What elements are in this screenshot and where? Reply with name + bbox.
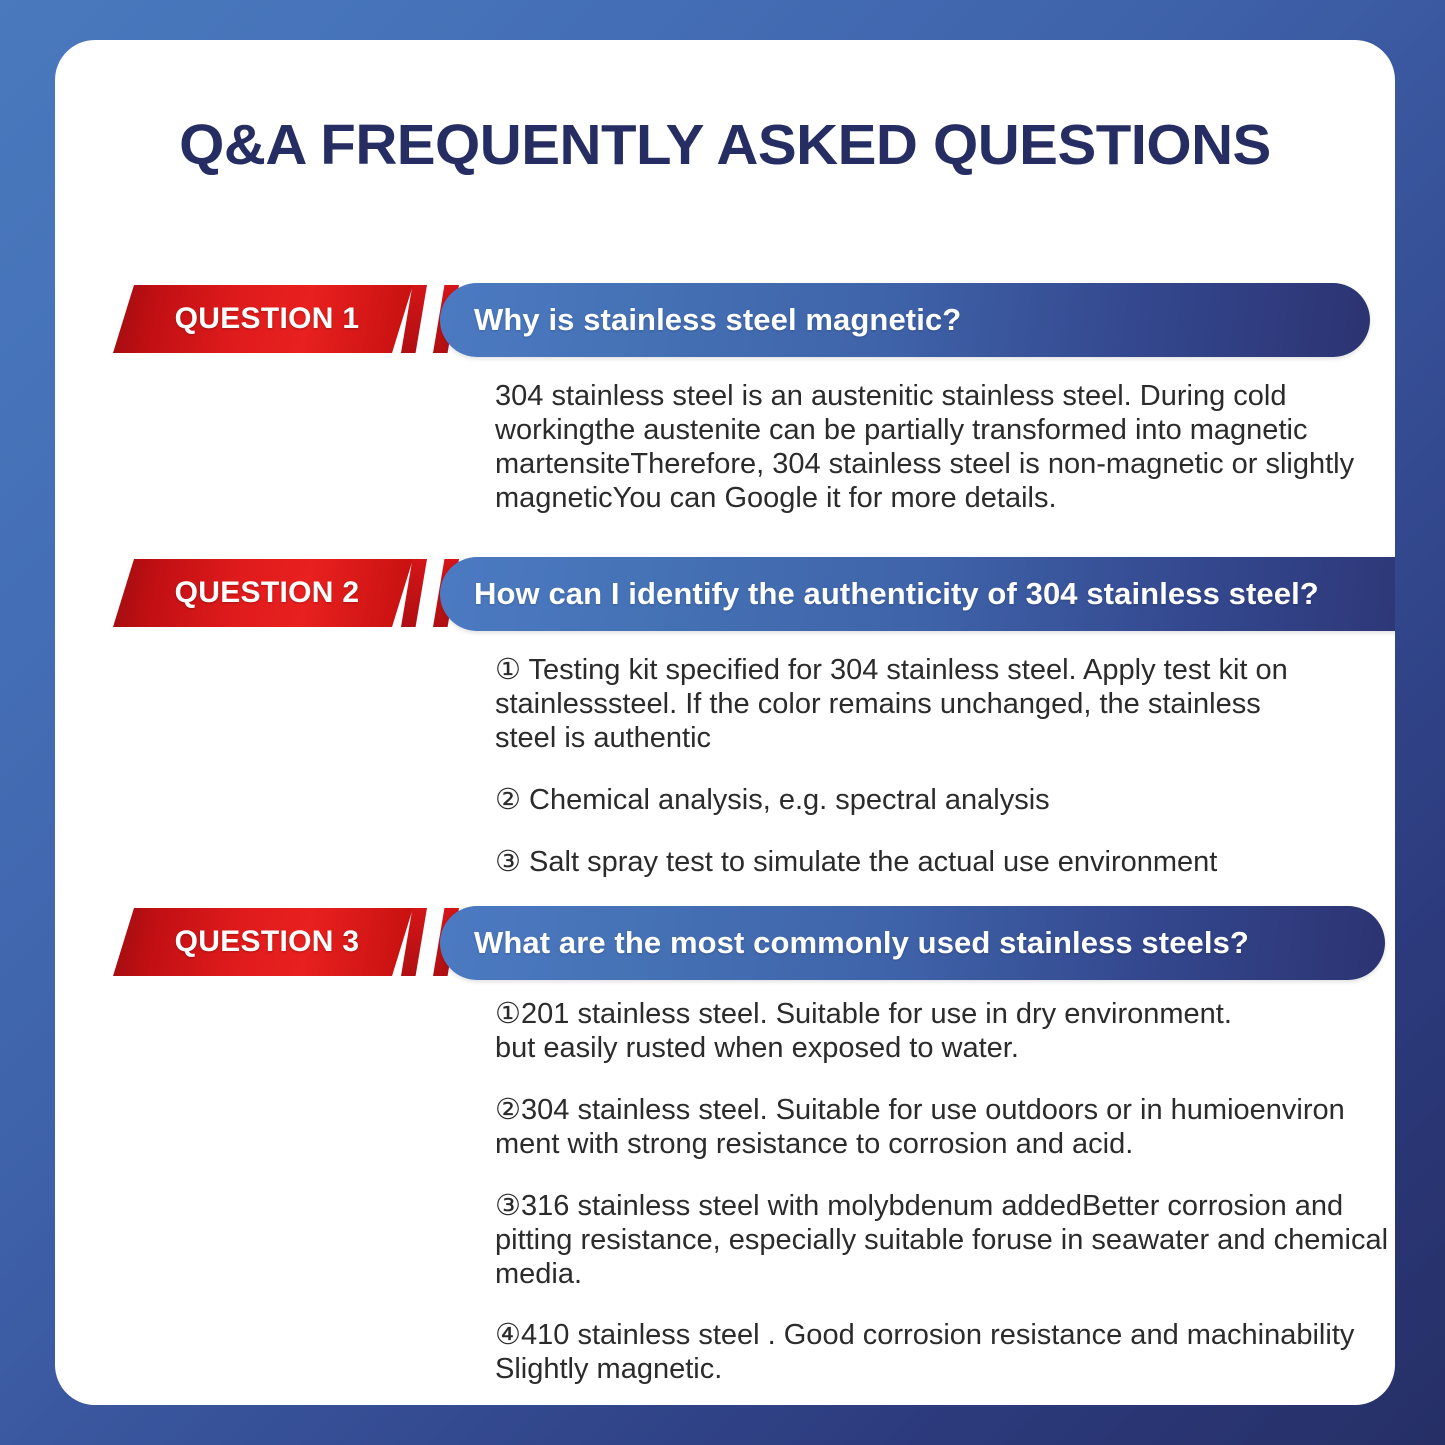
answer-paragraph: ③ Salt spray test to simulate the actual… [495, 846, 1295, 880]
question-text-2: How can I identify the authenticity of 3… [440, 576, 1349, 612]
question-pill-2[interactable]: How can I identify the authenticity of 3… [440, 557, 1395, 631]
answer-paragraph: ②304 stainless steel. Suitable for use o… [495, 1094, 1395, 1162]
question-badge-label-3: QUESTION 3 [175, 925, 360, 959]
answer-block-1: 304 stainless steel is an austenitic sta… [495, 380, 1365, 516]
question-badge-1[interactable]: QUESTION 1 [113, 285, 413, 353]
faq-card: Q&A FREQUENTLY ASKED QUESTIONS QUESTION … [55, 40, 1395, 1405]
answer-paragraph: ④410 stainless steel . Good corrosion re… [495, 1319, 1395, 1387]
question-badge-3[interactable]: QUESTION 3 [113, 908, 413, 976]
question-pill-3[interactable]: What are the most commonly used stainles… [440, 906, 1385, 980]
answer-block-2: ① Testing kit specified for 304 stainles… [495, 654, 1295, 880]
question-text-3: What are the most commonly used stainles… [440, 925, 1279, 961]
question-badge-2[interactable]: QUESTION 2 [113, 559, 413, 627]
answer-paragraph: ② Chemical analysis, e.g. spectral analy… [495, 784, 1295, 818]
question-row-1: QUESTION 1 Why is stainless steel magnet… [55, 285, 1395, 357]
question-text-1: Why is stainless steel magnetic? [440, 302, 991, 338]
question-badge-label-1: QUESTION 1 [175, 302, 360, 336]
answer-paragraph: ① Testing kit specified for 304 stainles… [495, 654, 1295, 756]
question-row-2: QUESTION 2 How can I identify the authen… [55, 559, 1395, 631]
answer-paragraph: ①201 stainless steel. Suitable for use i… [495, 998, 1395, 1066]
answer-paragraph: ③316 stainless steel with molybdenum add… [495, 1190, 1395, 1292]
page-title: Q&A FREQUENTLY ASKED QUESTIONS [55, 112, 1395, 178]
answer-paragraph: 304 stainless steel is an austenitic sta… [495, 380, 1365, 516]
question-pill-1[interactable]: Why is stainless steel magnetic? [440, 283, 1370, 357]
question-row-3: QUESTION 3 What are the most commonly us… [55, 908, 1395, 980]
answer-block-3: ①201 stainless steel. Suitable for use i… [495, 998, 1395, 1387]
question-badge-label-2: QUESTION 2 [175, 576, 360, 610]
